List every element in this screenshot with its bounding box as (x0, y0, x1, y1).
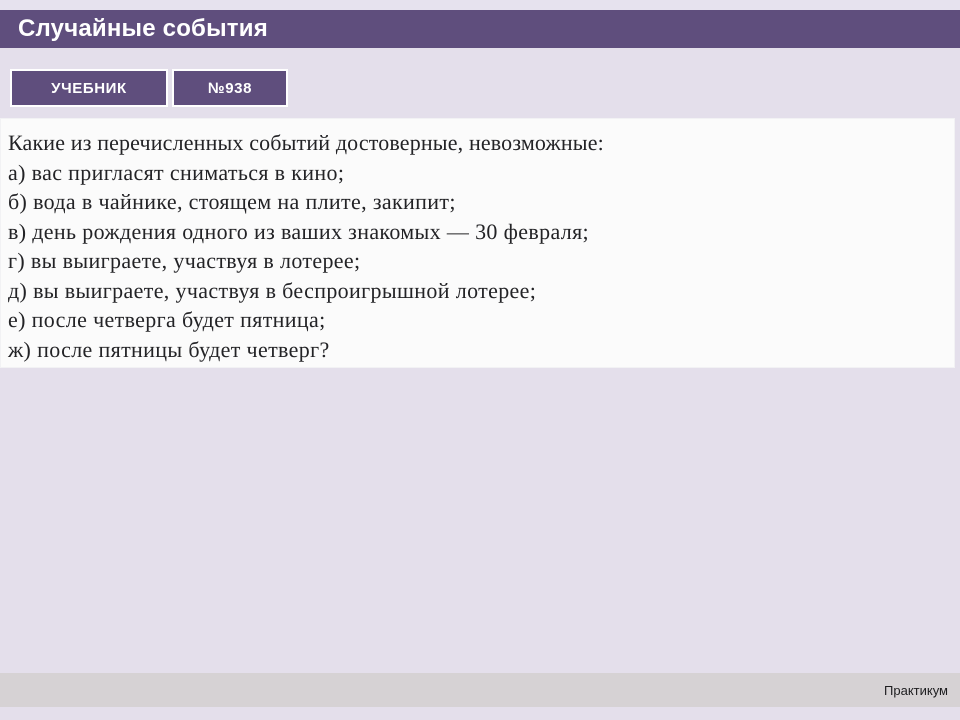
task-item-e: е) после четверга будет пятница; (8, 305, 955, 335)
task-item-a: а) вас пригласят сниматься в кино; (8, 158, 955, 188)
task-item-v: в) день рождения одного из ваших знакомы… (8, 217, 955, 247)
task-item-b: б) вода в чайнике, стоящем на плите, зак… (8, 187, 955, 217)
top-strip (0, 0, 960, 10)
title-bar: Случайные события (0, 10, 960, 48)
task-item-d: д) вы выиграете, участвуя в беспроигрышн… (8, 276, 955, 306)
task-prompt-line: Какие из перечисленных событий достоверн… (8, 128, 955, 158)
task-number-button[interactable]: №938 (172, 69, 288, 107)
footer-section-label: Практикум (884, 684, 948, 697)
task-item-g: г) вы выиграете, участвуя в лотерее; (8, 246, 955, 276)
textbook-button[interactable]: УЧЕБНИК (10, 69, 168, 107)
footer-underfill (0, 707, 960, 720)
button-row: УЧЕБНИК №938 (0, 48, 960, 118)
scanned-task-text: Какие из перечисленных событий достоверн… (0, 118, 955, 364)
scanned-task-panel: Какие из перечисленных событий достоверн… (0, 118, 955, 368)
task-item-zh: ж) после пятницы будет четверг? (8, 335, 955, 365)
footer-bar: Практикум (0, 673, 960, 707)
page-title: Случайные события (18, 17, 268, 41)
